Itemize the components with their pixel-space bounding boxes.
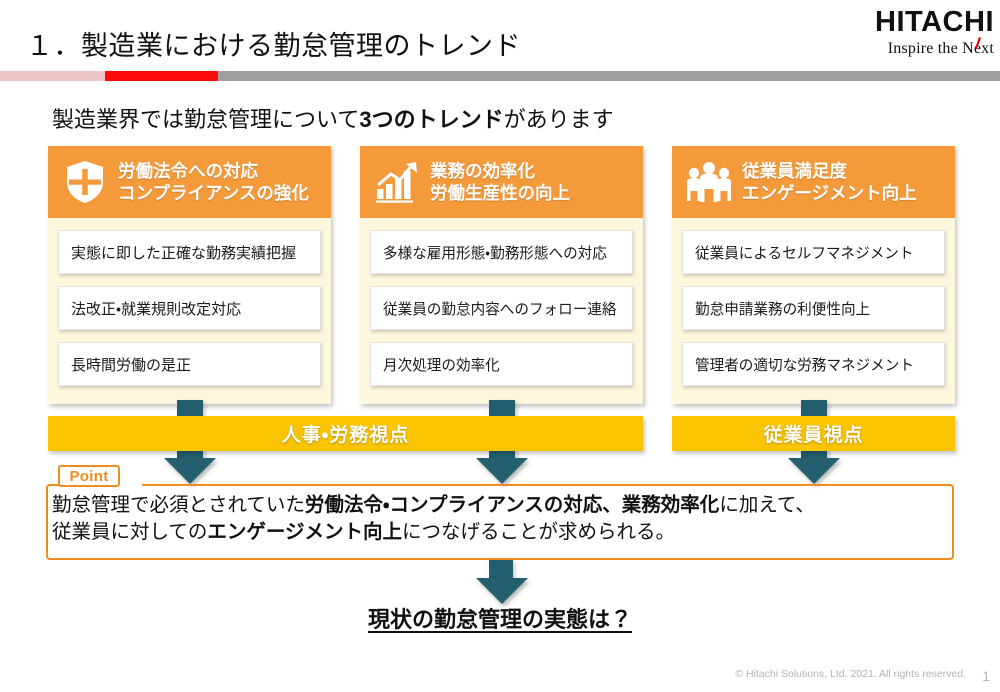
lead-prefix: 製造業界では勤怠管理について <box>52 107 359 132</box>
lead-suffix: があります <box>504 107 614 132</box>
list-item[interactable]: 実態に即した正確な勤務実績把握 <box>58 230 321 274</box>
copyright-notice: © Hitachi Solutions, Ltd. 2021. All righ… <box>735 668 966 680</box>
arrow-head-col1 <box>164 458 216 484</box>
point-badge-label: Point <box>70 468 109 485</box>
trend-card-title-line2: コンプライアンスの強化 <box>118 182 309 204</box>
header-rule-red-segment <box>105 71 218 81</box>
header-rule-pink-segment <box>0 71 105 81</box>
bar-chart-growth-icon <box>372 158 422 206</box>
viewpoint-bar-employee: 従業員視点 <box>672 416 955 451</box>
people-group-icon <box>684 158 734 206</box>
list-item[interactable]: 勤怠申請業務の利便性向上 <box>682 286 945 330</box>
point-line1-a: 勤怠管理で必須とされていた <box>52 494 305 516</box>
list-item[interactable]: 多様な雇用形態・勤務形態への対応 <box>370 230 633 274</box>
trend-card-body: 多様な雇用形態・勤務形態への対応 従業員の勤怠内容へのフォロー連絡 月次処理の効… <box>360 218 643 398</box>
trend-card-title-line2: 労働生産性の向上 <box>430 182 570 204</box>
slide-canvas: １．製造業における勤怠管理のトレンド HITACHI Inspire the N… <box>0 0 1000 692</box>
list-item[interactable]: 従業員の勤怠内容へのフォロー連絡 <box>370 286 633 330</box>
viewpoint-bar-label: 従業員視点 <box>763 420 863 447</box>
trend-card-header: 従業員満足度 エンゲージメント向上 <box>672 146 955 218</box>
page-number: 1 <box>982 668 990 684</box>
point-line2-a: 従業員に対しての <box>52 521 207 543</box>
trend-card-efficiency[interactable]: 業務の効率化 労働生産性の向上 多様な雇用形態・勤務形態への対応 従業員の勤怠内… <box>360 146 643 404</box>
viewpoint-bar-hr-labor: 人事・労務視点 <box>48 416 643 451</box>
hitachi-logo: HITACHI Inspire the Next <box>814 8 994 57</box>
point-statement-line1: 勤怠管理で必須とされていた労働法令・コンプライアンスの対応、業務効率化に加えて、 <box>52 492 952 519</box>
trend-card-title: 従業員満足度 エンゲージメント向上 <box>742 160 917 204</box>
trend-card-header: 労働法令への対応 コンプライアンスの強化 <box>48 146 331 218</box>
list-item[interactable]: 長時間労働の是正 <box>58 342 321 386</box>
trend-card-compliance[interactable]: 労働法令への対応 コンプライアンスの強化 実態に即した正確な勤務実績把握 法改正… <box>48 146 331 404</box>
arrow-head-col3 <box>788 458 840 484</box>
trend-card-header: 業務の効率化 労働生産性の向上 <box>360 146 643 218</box>
point-badge: Point <box>58 465 120 487</box>
trend-card-title: 業務の効率化 労働生産性の向上 <box>430 160 570 204</box>
point-line2-emphasis: エンゲージメント向上 <box>207 521 402 543</box>
point-line1-emphasis: 労働法令・コンプライアンスの対応、業務効率化 <box>305 494 719 516</box>
header-rule-gray-segment <box>218 71 1000 81</box>
lead-emphasis: 3つのトレンド <box>359 107 503 132</box>
logo-wordmark: HITACHI <box>814 8 994 37</box>
shield-icon <box>60 158 110 206</box>
page-title: １．製造業における勤怠管理のトレンド <box>26 24 521 63</box>
trend-card-title-line1: 従業員満足度 <box>742 161 847 181</box>
trend-card-title: 労働法令への対応 コンプライアンスの強化 <box>118 160 309 204</box>
trend-card-engagement[interactable]: 従業員満足度 エンゲージメント向上 従業員によるセルフマネジメント 勤怠申請業務… <box>672 146 955 404</box>
logo-tagline: Inspire the Next <box>814 41 994 57</box>
list-item[interactable]: 法改正・就業規則改定対応 <box>58 286 321 330</box>
trend-card-title-line2: エンゲージメント向上 <box>742 182 917 204</box>
trend-card-title-line1: 業務の効率化 <box>430 161 535 181</box>
arrow-head-col2 <box>476 458 528 484</box>
list-item[interactable]: 月次処理の効率化 <box>370 342 633 386</box>
list-item[interactable]: 従業員によるセルフマネジメント <box>682 230 945 274</box>
viewpoint-bar-label: 人事・労務視点 <box>282 420 409 447</box>
trend-card-title-line1: 労働法令への対応 <box>118 161 258 181</box>
point-line1-c: に加えて、 <box>719 494 815 516</box>
lead-statement: 製造業界では勤怠管理について3つのトレンドがあります <box>52 102 614 134</box>
arrow-head-conclusion <box>476 578 528 604</box>
point-statement: 勤怠管理で必須とされていた労働法令・コンプライアンスの対応、業務効率化に加えて、… <box>52 492 952 546</box>
trend-card-body: 実態に即した正確な勤務実績把握 法改正・就業規則改定対応 長時間労働の是正 <box>48 218 331 398</box>
header-rule <box>0 71 1000 81</box>
point-line2-c: につなげることが求められる。 <box>402 521 675 543</box>
list-item[interactable]: 管理者の適切な労務マネジメント <box>682 342 945 386</box>
trend-card-body: 従業員によるセルフマネジメント 勤怠申請業務の利便性向上 管理者の適切な労務マネ… <box>672 218 955 398</box>
conclusion-question: 現状の勤怠管理の実態は？ <box>0 602 1000 634</box>
point-statement-line2: 従業員に対してのエンゲージメント向上につなげることが求められる。 <box>52 519 952 546</box>
